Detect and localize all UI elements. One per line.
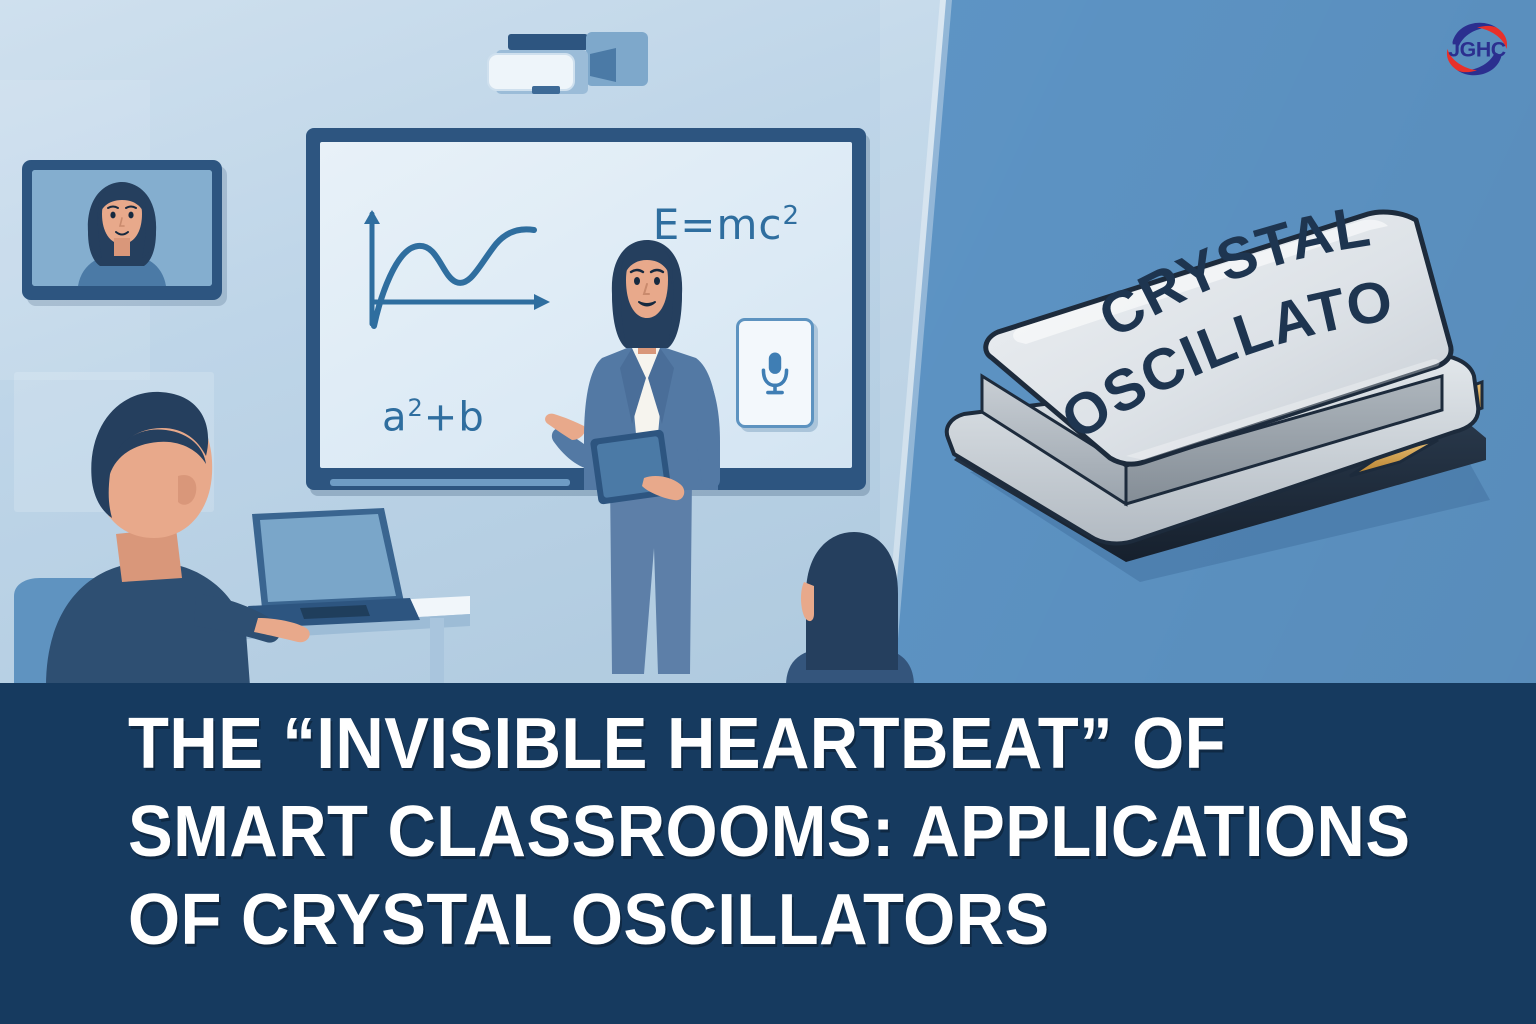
jghc-logo[interactable]: JGHC xyxy=(1436,8,1518,90)
video-screen-surface xyxy=(32,170,212,286)
microphone-icon xyxy=(757,349,793,397)
wave-curve-graph-icon xyxy=(356,202,566,332)
illustration-scene: JGHC xyxy=(0,0,1536,686)
student-seated-foreground xyxy=(780,528,920,686)
title-line-3: OF CRYSTAL OSCILLATORS xyxy=(128,877,1374,965)
title-line-1: THE “INVISIBLE HEARTBEAT” OF xyxy=(128,701,1374,789)
teacher-presenting-with-tablet xyxy=(540,228,760,686)
formula-energy-exponent: 2 xyxy=(782,201,800,231)
title-band: THE “INVISIBLE HEARTBEAT” OF SMART CLASS… xyxy=(0,683,1536,1024)
title-line-2: SMART CLASSROOMS: APPLICATIONS xyxy=(128,789,1374,877)
poster-graphic: JGHC xyxy=(0,0,1536,1024)
remote-student-video-screen xyxy=(22,160,222,300)
crystal-oscillator-product: CRYSTAL OSCILLATOR xyxy=(930,170,1520,610)
page-title: THE “INVISIBLE HEARTBEAT” OF SMART CLASS… xyxy=(128,701,1374,964)
student-with-laptop xyxy=(0,378,480,686)
ceiling-projector xyxy=(466,28,656,110)
logo-wordmark: JGHC xyxy=(1448,37,1506,61)
